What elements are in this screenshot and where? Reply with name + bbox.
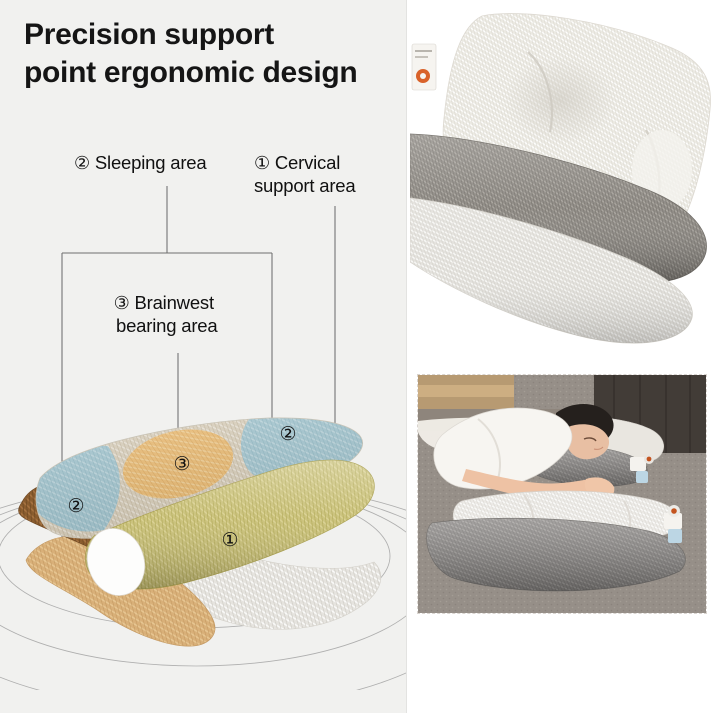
callout-cervical-support-area: ① Cervical support area — [254, 152, 355, 198]
lifestyle-photo-sleeping — [418, 375, 706, 613]
panel-divider — [406, 0, 407, 713]
callout-label-brainwest-line2: bearing area — [110, 315, 217, 338]
product-tag — [412, 44, 436, 90]
infographic-canvas: Precision support point ergonomic design — [0, 0, 713, 713]
zone-marker-2-left: ② — [67, 496, 84, 517]
zone-marker-1: ① — [221, 530, 238, 551]
callout-label-brainwest: Brainwest — [134, 292, 213, 313]
callout-sleeping-area: ② Sleeping area — [74, 152, 206, 175]
callout-label-cervical-line2: support area — [254, 175, 355, 198]
callout-marker-2: ② — [74, 153, 90, 173]
zone-marker-2-right: ② — [279, 424, 296, 445]
callout-label-sleeping-area: Sleeping area — [95, 152, 207, 173]
callout-label-cervical: Cervical — [275, 152, 340, 173]
callout-marker-1: ① — [254, 153, 270, 173]
diagram-panel: Precision support point ergonomic design — [0, 0, 407, 713]
pillow-diagram: ② ② ③ ① — [0, 360, 407, 690]
callout-brainwest-bearing-area: ③ Brainwest bearing area — [110, 292, 217, 338]
zone-marker-3: ③ — [173, 454, 190, 475]
product-photo-stack — [410, 0, 713, 357]
callout-marker-3: ③ — [114, 293, 130, 313]
